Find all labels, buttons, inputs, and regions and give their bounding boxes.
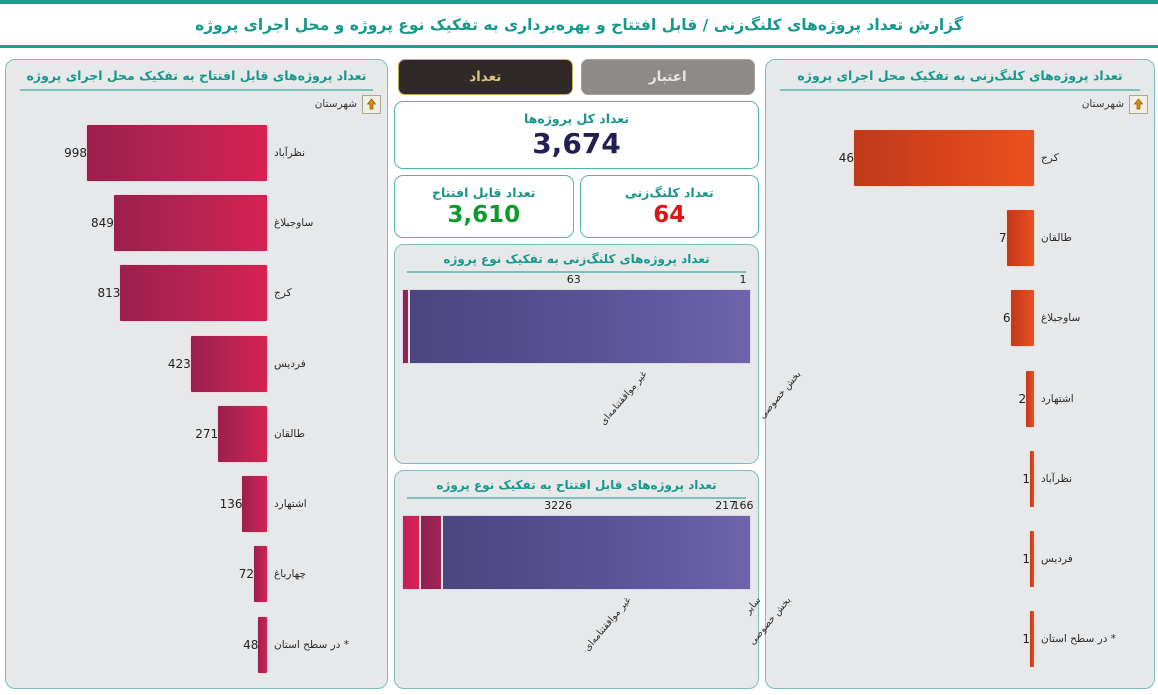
- bar-track: 423: [6, 336, 267, 392]
- right-sort-label: شهرستان: [1082, 98, 1124, 110]
- chart-bottom-value-labels: 3226217166: [403, 499, 750, 516]
- bar-fill[interactable]: [1007, 210, 1034, 266]
- stack-category-label: سایر: [743, 595, 763, 616]
- bar-fill[interactable]: [258, 617, 267, 673]
- bar-row[interactable]: اشتهارد136: [6, 475, 387, 533]
- chart-bottom-plot: 3226217166 غیر موافقتنامه‌ایبخش خصوصیسای…: [395, 499, 758, 683]
- bar-track: 72: [6, 546, 267, 602]
- left-panel-title: تعداد پروژه‌های قابل افتتاح به تفکیک محل…: [6, 60, 387, 89]
- stack-value-label: 63: [567, 273, 581, 286]
- bar-track: 1: [766, 611, 1034, 667]
- panel-groundbreaking-by-location: تعداد پروژه‌های کلنگ‌زنی به تفکیک محل اج…: [765, 59, 1155, 689]
- stack-segment-gap: [419, 516, 421, 589]
- bar-fill[interactable]: [254, 546, 267, 602]
- bar-category-label: فردیس: [267, 358, 387, 370]
- bar-track: 136: [6, 476, 267, 532]
- panel-summary-and-type-charts: تعداد اعتبار تعداد کل پروژه‌ها 3,674 تعد…: [394, 59, 759, 689]
- stack-segment[interactable]: [421, 516, 442, 589]
- bar-track: 48: [6, 617, 267, 673]
- bar-value-label: 1: [1016, 552, 1030, 566]
- bar-category-label: کرج: [267, 287, 387, 299]
- kpi-total-label: تعداد کل پروژه‌ها: [401, 111, 752, 126]
- page-title: گزارش تعداد پروژه‌های کلنگ‌زنی / قابل اف…: [195, 16, 963, 34]
- chart-groundbreaking-by-type: تعداد پروژه‌های کلنگ‌زنی به تفکیک نوع پر…: [394, 244, 759, 464]
- kpi-total-projects: تعداد کل پروژه‌ها 3,674: [394, 101, 759, 169]
- kpi-groundbreaking: تعداد کلنگ‌زنی 64: [580, 175, 760, 238]
- bar-row[interactable]: کرج46: [766, 129, 1154, 187]
- tab-credit[interactable]: اعتبار: [581, 59, 756, 95]
- page-header: گزارش تعداد پروژه‌های کلنگ‌زنی / قابل اف…: [0, 4, 1158, 48]
- left-sort-label: شهرستان: [315, 98, 357, 110]
- bar-fill[interactable]: [87, 125, 267, 181]
- kpi-openable-label: تعداد قابل افتتاح: [401, 185, 567, 200]
- bar-value-label: 423: [162, 357, 191, 371]
- bar-category-label: اشتهارد: [267, 498, 387, 510]
- kpi-groundbreaking-value: 64: [587, 204, 753, 227]
- chart-top-value-labels: 631: [403, 273, 750, 290]
- bar-value-label: 136: [214, 497, 243, 511]
- bar-track: 1: [766, 531, 1034, 587]
- bar-value-label: 7: [993, 231, 1007, 245]
- stack-value-label: 3226: [544, 499, 572, 512]
- bar-fill[interactable]: [242, 476, 267, 532]
- bar-category-label: طالقان: [1034, 232, 1154, 244]
- bar-fill[interactable]: [1011, 290, 1034, 346]
- bar-track: 271: [6, 406, 267, 462]
- bar-track: 7: [766, 210, 1034, 266]
- bar-value-label: 6: [997, 311, 1011, 325]
- kpi-openable: تعداد قابل افتتاح 3,610: [394, 175, 574, 238]
- stack-segment[interactable]: [443, 516, 750, 589]
- stack-category-label: غیر موافقتنامه‌ای: [582, 595, 633, 653]
- bar-category-label: نظرآباد: [267, 147, 387, 159]
- bar-category-label: نظرآباد: [1034, 473, 1154, 485]
- bar-row[interactable]: کرج813: [6, 264, 387, 322]
- bar-category-label: اشتهارد: [1034, 393, 1154, 405]
- bar-value-label: 2: [1013, 392, 1027, 406]
- chart-bottom-category-labels: غیر موافقتنامه‌ایبخش خصوصیسایر: [403, 589, 750, 683]
- bar-row[interactable]: چهارباغ72: [6, 545, 387, 603]
- right-sort-control[interactable]: شهرستان: [766, 91, 1154, 114]
- bar-row[interactable]: اشتهارد2: [766, 370, 1154, 428]
- right-bar-chart: کرج46طالقان7ساوجبلاغ6اشتهارد2نظرآباد1فرد…: [766, 114, 1154, 684]
- bar-category-label: طالقان: [267, 428, 387, 440]
- bar-value-label: 271: [189, 427, 218, 441]
- bar-category-label: ساوجبلاغ: [267, 217, 387, 229]
- bar-track: 1: [766, 451, 1034, 507]
- bar-category-label: * در سطح استان: [267, 639, 387, 651]
- stack-value-label: 1: [740, 273, 747, 286]
- bar-value-label: 998: [58, 146, 87, 160]
- bar-fill[interactable]: [218, 406, 267, 462]
- bar-track: 849: [6, 195, 267, 251]
- panel-openable-by-location: تعداد پروژه‌های قابل افتتاح به تفکیک محل…: [5, 59, 388, 689]
- bar-value-label: 48: [237, 638, 258, 652]
- sort-ascending-icon[interactable]: [362, 95, 381, 114]
- bar-row[interactable]: نظرآباد1: [766, 450, 1154, 508]
- bar-category-label: کرج: [1034, 152, 1154, 164]
- tab-count[interactable]: تعداد: [398, 59, 573, 95]
- left-bar-chart: نظرآباد998ساوجبلاغ849کرج813فردیس423طالقا…: [6, 114, 387, 684]
- bar-value-label: 46: [833, 151, 854, 165]
- stack-segment-gap: [408, 290, 410, 363]
- bar-fill[interactable]: [1030, 531, 1034, 587]
- kpi-groundbreaking-label: تعداد کلنگ‌زنی: [587, 185, 753, 200]
- bar-fill[interactable]: [114, 195, 267, 251]
- chart-top-title: تعداد پروژه‌های کلنگ‌زنی به تفکیک نوع پر…: [395, 245, 758, 271]
- kpi-openable-value: 3,610: [401, 204, 567, 227]
- bar-fill[interactable]: [1030, 451, 1034, 507]
- bar-row[interactable]: نظرآباد998: [6, 124, 387, 182]
- bar-category-label: * در سطح استان: [1034, 633, 1154, 645]
- bar-category-label: چهارباغ: [267, 568, 387, 580]
- bar-row[interactable]: * در سطح استان1: [766, 610, 1154, 668]
- chart-bottom-title: تعداد پروژه‌های قابل افتتاح به تفکیک نوع…: [395, 471, 758, 497]
- chart-bottom-stacked-bar: [403, 516, 750, 589]
- bar-value-label: 72: [233, 567, 254, 581]
- stack-value-label: 166: [733, 499, 754, 512]
- bar-value-label: 1: [1016, 632, 1030, 646]
- kpi-row: تعداد قابل افتتاح 3,610 تعداد کلنگ‌زنی 6…: [394, 175, 759, 238]
- chart-openable-by-type: تعداد پروژه‌های قابل افتتاح به تفکیک نوع…: [394, 470, 759, 690]
- stack-segment[interactable]: [403, 516, 419, 589]
- bar-value-label: 1: [1016, 472, 1030, 486]
- stack-segment[interactable]: [403, 290, 408, 363]
- bar-track: 2: [766, 371, 1034, 427]
- sort-ascending-icon[interactable]: [1129, 95, 1148, 114]
- bar-row[interactable]: فردیس423: [6, 335, 387, 393]
- chart-top-category-labels: غیر موافقتنامه‌ایبخش خصوصی: [403, 363, 750, 457]
- bar-value-label: 849: [85, 216, 114, 230]
- stack-segment[interactable]: [410, 290, 750, 363]
- bar-track: 813: [6, 265, 267, 321]
- bar-value-label: 813: [91, 286, 120, 300]
- stack-category-label: غیر موافقتنامه‌ای: [598, 369, 649, 427]
- right-panel-title: تعداد پروژه‌های کلنگ‌زنی به تفکیک محل اج…: [766, 60, 1154, 89]
- bar-category-label: ساوجبلاغ: [1034, 312, 1154, 324]
- bar-track: 998: [6, 125, 267, 181]
- bar-fill[interactable]: [1030, 611, 1034, 667]
- stack-segment-gap: [441, 516, 443, 589]
- chart-top-plot: 631 غیر موافقتنامه‌ایبخش خصوصی: [395, 273, 758, 457]
- bar-row[interactable]: فردیس1: [766, 530, 1154, 588]
- dashboard-body: تعداد پروژه‌های کلنگ‌زنی به تفکیک محل اج…: [0, 51, 1158, 695]
- bar-track: 46: [766, 130, 1034, 186]
- bar-track: 6: [766, 290, 1034, 346]
- bar-row[interactable]: ساوجبلاغ849: [6, 194, 387, 252]
- bar-row[interactable]: * در سطح استان48: [6, 616, 387, 674]
- kpi-total-value: 3,674: [401, 130, 752, 158]
- bar-fill[interactable]: [1026, 371, 1034, 427]
- bar-fill[interactable]: [120, 265, 267, 321]
- metric-tabs: تعداد اعتبار: [394, 59, 759, 95]
- chart-top-stacked-bar: [403, 290, 750, 363]
- bar-category-label: فردیس: [1034, 553, 1154, 565]
- bar-row[interactable]: طالقان271: [6, 405, 387, 463]
- bar-fill[interactable]: [854, 130, 1034, 186]
- bar-fill[interactable]: [191, 336, 267, 392]
- bar-row[interactable]: طالقان7: [766, 209, 1154, 267]
- left-sort-control[interactable]: شهرستان: [6, 91, 387, 114]
- bar-row[interactable]: ساوجبلاغ6: [766, 289, 1154, 347]
